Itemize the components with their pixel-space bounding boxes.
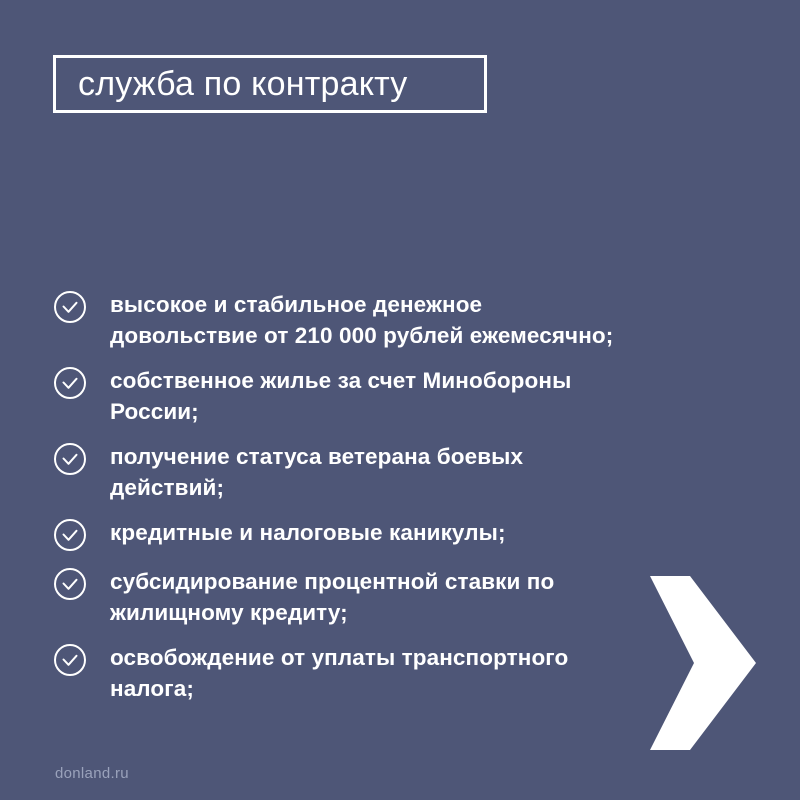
list-item: освобождение от уплаты транспортного нал… <box>53 642 653 704</box>
list-item: субсидирование процентной ставки по жили… <box>53 566 653 628</box>
list-item-label: кредитные и налоговые каникулы; <box>110 517 506 548</box>
check-circle-icon <box>53 442 87 476</box>
check-circle-icon <box>53 518 87 552</box>
list-item: высокое и стабильное денежное довольстви… <box>53 289 653 351</box>
check-circle-icon <box>53 366 87 400</box>
benefits-list: высокое и стабильное денежное довольстви… <box>53 289 653 704</box>
check-circle-icon <box>53 567 87 601</box>
title-box: служба по контракту <box>53 55 487 113</box>
list-item-label: субсидирование процентной ставки по жили… <box>110 566 630 628</box>
check-circle-icon <box>53 643 87 677</box>
list-item: собственное жилье за счет Минобороны Рос… <box>53 365 653 427</box>
list-item-label: получение статуса ветерана боевых действ… <box>110 441 630 503</box>
list-item-label: собственное жилье за счет Минобороны Рос… <box>110 365 630 427</box>
list-item: получение статуса ветерана боевых действ… <box>53 441 653 503</box>
page-title: служба по контракту <box>56 67 408 101</box>
check-circle-icon <box>53 290 87 324</box>
poster-canvas: служба по контракту высокое и стабильное… <box>0 0 800 800</box>
list-item: кредитные и налоговые каникулы; <box>53 517 653 552</box>
list-item-label: высокое и стабильное денежное довольстви… <box>110 289 630 351</box>
footer-website-url: donland.ru <box>55 766 129 781</box>
list-item-label: освобождение от уплаты транспортного нал… <box>110 642 630 704</box>
chevron-right-icon <box>648 576 758 750</box>
